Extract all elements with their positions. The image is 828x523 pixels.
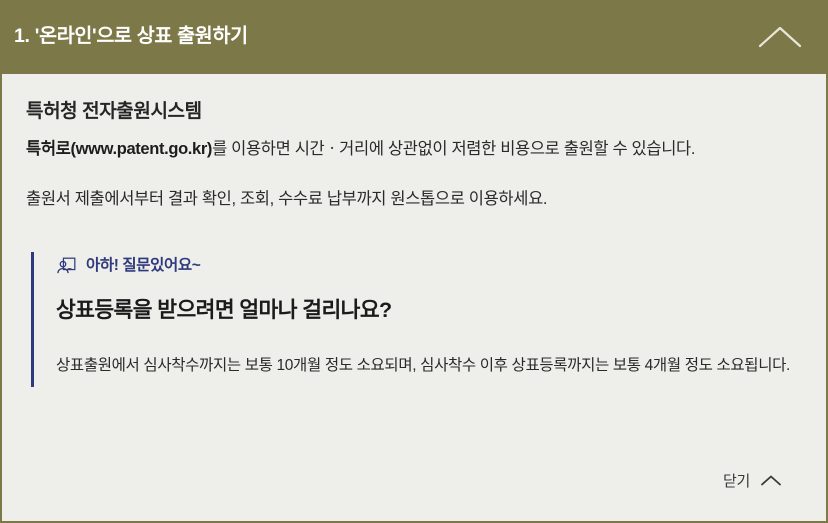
page-title: 1. '온라인'으로 상표 출원하기 <box>14 25 248 48</box>
accordion-header[interactable]: 1. '온라인'으로 상표 출원하기 <box>0 0 828 74</box>
system-title: 특허청 전자출원시스템 <box>26 100 802 124</box>
intro-paragraph: 특허로(www.patent.go.kr)를 이용하면 시간ㆍ거리에 상관없이 … <box>26 138 802 162</box>
question-person-icon <box>56 256 77 277</box>
intro-paragraph-rest: 를 이용하면 시간ㆍ거리에 상관없이 저렴한 비용으로 출원할 수 있습니다. <box>212 140 695 158</box>
patent-site-link-text[interactable]: 특허로(www.patent.go.kr) <box>26 140 212 158</box>
qa-question: 상표등록을 받으려면 얼마나 걸리나요? <box>56 297 802 324</box>
secondary-paragraph: 출원서 제출에서부터 결과 확인, 조회, 수수료 납부까지 원스톱으로 이용하… <box>26 188 802 212</box>
faq-accordion-panel: 1. '온라인'으로 상표 출원하기 특허청 전자출원시스템 특허로(www.p… <box>0 0 828 523</box>
accordion-collapse-button[interactable] <box>754 11 806 63</box>
chevron-up-icon <box>760 474 782 488</box>
qa-tag: 아하! 질문있어요~ <box>56 256 802 277</box>
qa-callout: 아하! 질문있어요~ 상표등록을 받으려면 얼마나 걸리나요? 상표출원에서 심… <box>31 252 802 387</box>
accordion-content: 특허청 전자출원시스템 특허로(www.patent.go.kr)를 이용하면 … <box>0 74 828 523</box>
qa-tag-label: 아하! 질문있어요~ <box>86 258 200 274</box>
qa-answer: 상표출원에서 심사착수까지는 보통 10개월 정도 소요되며, 심사착수 이후 … <box>56 353 796 379</box>
close-button-label: 닫기 <box>723 470 750 491</box>
chevron-up-icon <box>757 22 803 52</box>
close-button[interactable]: 닫기 <box>26 470 802 521</box>
